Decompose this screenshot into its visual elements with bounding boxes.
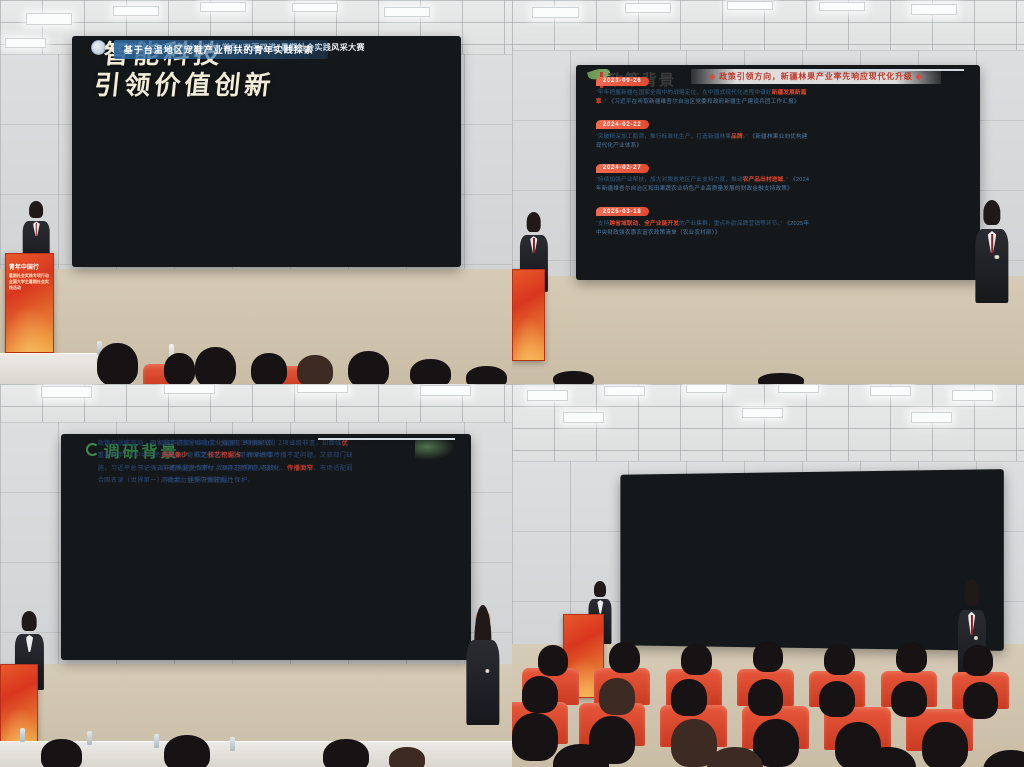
- activity-photo: [791, 476, 840, 479]
- ceiling-light: [200, 2, 246, 11]
- participant-hair: [22, 611, 37, 631]
- bar: [664, 477, 709, 478]
- ceiling-light: [384, 7, 430, 17]
- audience-foreground: [512, 357, 1024, 384]
- audience-head: [983, 750, 1024, 767]
- quote-highlight: 农产品出村进城: [743, 177, 784, 183]
- policy-item: 2025-03-18 “支持跨省域联动、全产业链开发的产业集群，重点补欧品牌营销…: [596, 200, 810, 238]
- photo-collage: 台州学院 Taizhou University 2025年度台州市大学生“双百双…: [0, 0, 1024, 767]
- chart-axes: 58.6 34.2 48.3: [652, 477, 725, 478]
- policy-item: 2024-02-27 “持续加强产业帮扶，加大对脱贫地区产业支持力度，推动农产品…: [596, 156, 810, 194]
- category-label: 学业信心不足: [704, 473, 722, 478]
- questionnaire-screenshot: [736, 476, 788, 478]
- paragraph-lead: 政策与战略驱动：: [98, 440, 151, 447]
- quote-text: “突破精深加工瓶颈，推行标准化生产，打造新疆林果: [596, 134, 731, 140]
- presenter-tie: [35, 223, 37, 236]
- water-bottle: [154, 734, 159, 748]
- audience-head: [41, 739, 82, 767]
- quote-source: 《习近平在听取新疆维吾尔自治区党委和政府新疆生产建设兵团工作汇报》: [608, 99, 799, 105]
- presenter-badge: [485, 669, 490, 674]
- audience-head: [963, 645, 994, 676]
- presenter: [975, 204, 1008, 304]
- panel-bottom-left: 调研背景 政策与战略驱动：国家将非遗保护作为文化强国、乡村振兴的重要抓手，《中华…: [0, 384, 512, 767]
- nav-item-project-results[interactable]: 项目成果: [887, 478, 920, 479]
- nav-item-future-outlook[interactable]: 未来展望: [928, 477, 961, 478]
- slide-big-title: 研究方法: [874, 474, 989, 479]
- ceiling-light: [778, 384, 819, 393]
- ceiling-light: [742, 408, 783, 418]
- projection-screen: 归因分析 项目背景 | 实践发现 | 归因分析 | 对策建议 | 项目成果: [621, 469, 1004, 651]
- paragraph-text: 、技艺: [188, 452, 208, 459]
- document-screenshot: [810, 69, 880, 71]
- participant-tie: [533, 238, 535, 253]
- participant-hair: [526, 212, 541, 232]
- water-bottle: [20, 728, 25, 742]
- ceiling-light: [297, 384, 348, 393]
- audience-head: [681, 644, 712, 675]
- ring-icon: [86, 443, 99, 456]
- panel-bottom-right: 归因分析 项目背景 | 实践发现 | 归因分析 | 对策建议 | 项目成果: [512, 384, 1024, 767]
- ceiling-light: [686, 384, 727, 393]
- method-bracket: [743, 475, 859, 478]
- horizontal-bar-chart: 项目A 54.6 项目B 32.1 项目C 28.4: [639, 477, 725, 478]
- document-screenshot: [886, 69, 959, 71]
- audience-head: [758, 373, 804, 384]
- audience-foreground: [0, 721, 512, 767]
- bar-value: 34.2: [685, 473, 692, 476]
- quote-text: “牢牢把握新疆在国家全局中的战略定位，在中国式现代化进程中谱好: [596, 90, 772, 96]
- podium-glow: [512, 315, 545, 361]
- ceiling-light: [727, 1, 773, 10]
- audience-head: [522, 676, 558, 713]
- presenter-body: [975, 229, 1008, 303]
- legend-swatch: [650, 473, 654, 476]
- body-text: 的研究框架，确保了: [922, 476, 984, 479]
- audience-head: [609, 642, 640, 673]
- policy-quote: “持续加强产业帮扶，加大对脱贫地区产业支持力度，推动农产品出村进城。” 《202…: [596, 176, 810, 194]
- diamond-icon: ◈: [913, 72, 923, 81]
- slide-body-text: 的研究框架，确保了 研究结果的全面性 和客观性。: [871, 474, 984, 479]
- projection-screen: 台州学院 Taizhou University 2025年度台州市大学生“双百双…: [72, 36, 461, 266]
- photo-caption-observation: 参与式观察: [852, 473, 881, 475]
- paragraph-lead: 仙居非遗发展痛点：: [162, 440, 221, 447]
- presenter-hair: [983, 200, 1000, 226]
- slide-subtitle: 基于台温地区宠鞋产业帮扶的青年实践探索: [114, 40, 328, 59]
- ceiling-light: [527, 390, 568, 401]
- presenter: [466, 610, 499, 725]
- policy-item: 2023-09-26 “牢牢把握新疆在国家全局中的战略定位，在中国式现代化进程中…: [596, 69, 810, 107]
- audience-head: [891, 681, 927, 718]
- paragraph-painpoints: 仙居非遗发展痛点：仙居有3项国家级、2项省级非遗，却面临优质影像少、技艺技艺挖掘…: [162, 438, 355, 488]
- audience-seating: [512, 625, 1024, 767]
- policy-item: 2024-02-22 “突破精深加工瓶颈，推行标准化生产，打造新疆林果品牌。” …: [596, 113, 810, 151]
- policy-date-badge: 2024-02-27: [596, 164, 649, 173]
- vertical-bar-chart: 58.6 34.2 48.3: [642, 477, 725, 478]
- presenter-body: [466, 640, 499, 725]
- policy-date-badge: 2024-02-22: [596, 120, 649, 129]
- ceiling-light: [292, 3, 338, 12]
- podium-title: 青年中国行: [9, 264, 50, 273]
- screen-surface: 归因分析 项目背景 | 实践发现 | 归因分析 | 对策建议 | 项目成果: [625, 473, 1000, 647]
- audience-head: [410, 359, 451, 384]
- document-body-lines: [887, 70, 958, 71]
- ceiling-light: [604, 386, 645, 396]
- slide-attribution-analysis: 归因分析 项目背景 | 实践发现 | 归因分析 | 对策建议 | 项目成果: [625, 473, 1000, 478]
- ceiling-light: [625, 3, 671, 13]
- panel-top-right: 政策背景 ◈ 政策引领方向，新疆林果产业率先响应现代化升级 ◈ 2023-09-…: [512, 0, 1024, 384]
- audience-head: [753, 641, 784, 672]
- category-label: 社交回避倾向: [679, 473, 697, 478]
- paragraph-highlight: 传播面窄: [287, 465, 313, 472]
- presenter-tie: [991, 234, 993, 253]
- quote-highlight: 跨省域联动、全产业链开发: [610, 221, 680, 227]
- audience-head: [922, 722, 968, 767]
- legend-label: 情绪表达障碍表现: [656, 473, 685, 477]
- presenter-hair: [29, 201, 43, 218]
- policy-quote: “牢牢把握新疆在国家全局中的战略定位，在中国式现代化进程中谱好新疆发展新篇章。”…: [596, 89, 810, 107]
- ceiling-light: [420, 385, 471, 396]
- audience-head: [748, 679, 784, 716]
- audience-head: [824, 644, 855, 675]
- projection-screen: 政策背景 ◈ 政策引领方向，新疆林果产业率先响应现代化升级 ◈ 2023-09-…: [576, 65, 980, 280]
- document-body-lines: [811, 70, 879, 71]
- audience-foreground: [0, 330, 512, 384]
- quote-end: 。”: [743, 134, 748, 140]
- quote-end: 。”: [602, 99, 607, 105]
- document-body-lines: [741, 477, 783, 478]
- leaf-decoration-icon: [415, 438, 455, 460]
- ceiling-light: [911, 412, 952, 423]
- audience-head: [297, 355, 333, 384]
- quote-end: 。”: [783, 177, 788, 183]
- audience-head: [97, 343, 138, 384]
- activity-photo: [791, 476, 840, 479]
- paragraph-highlight: 技艺挖掘浅: [208, 452, 241, 459]
- document-screenshot: [363, 438, 451, 440]
- presenter-badge: [995, 255, 1000, 260]
- activity-photo: [844, 475, 894, 478]
- ceiling-light: [870, 386, 911, 396]
- category-label: 情绪表达困难: [655, 473, 673, 478]
- activity-photo: [844, 475, 894, 478]
- ceiling-light: [911, 4, 957, 14]
- policy-date-badge: 2025-03-18: [596, 207, 649, 216]
- ceiling-light: [41, 386, 92, 398]
- audience-head: [671, 679, 707, 716]
- quote-text: “持续加强产业帮扶，加大对脱贫地区产业支持力度，推动: [596, 177, 743, 183]
- audience-head: [553, 371, 594, 384]
- audience-head: [896, 642, 927, 673]
- highlight-phrase: 多维度、立体化: [889, 474, 985, 479]
- chart-row: 项目A 54.6: [639, 477, 725, 478]
- ceiling-light: [164, 384, 215, 394]
- presenter-hair: [964, 579, 979, 606]
- bar-value: 48.3: [709, 473, 716, 476]
- audience-head: [251, 353, 287, 384]
- panel-top-left: 台州学院 Taizhou University 2025年度台州市大学生“双百双…: [0, 0, 512, 384]
- teal-wave-decoration: [625, 473, 1000, 478]
- chart-category-labels: 情绪表达困难 社交回避倾向 学业信心不足: [652, 473, 725, 478]
- screen-surface: 台州学院 Taizhou University 2025年度台州市大学生“双百双…: [76, 40, 457, 262]
- podium-banner-text: 青年中国行 暑期社会实践专项行动 全国大学生暑期社会实践活动: [9, 264, 50, 291]
- ceiling-light: [952, 390, 993, 401]
- method-label-interview: 对话访谈: [789, 476, 816, 479]
- audience-head: [599, 678, 635, 715]
- ceiling-light: [563, 412, 604, 423]
- method-label-community: 社区暑期公益网: [823, 475, 870, 478]
- audience-head: [466, 366, 507, 384]
- audience-head: [963, 682, 999, 719]
- chart-legend: 情绪表达障碍表现: [650, 473, 685, 478]
- participant-shirt: [26, 635, 33, 652]
- water-bottle: [87, 731, 92, 745]
- participant-shirt: [597, 600, 603, 614]
- water-bottle: [230, 737, 235, 751]
- screen-surface: 政策背景 ◈ 政策引领方向，新疆林果产业率先响应现代化升级 ◈ 2023-09-…: [580, 69, 976, 276]
- online-offline-label: 线上 ＋ 线下: [769, 475, 853, 478]
- audience-head: [164, 353, 195, 384]
- audience-head: [389, 747, 425, 767]
- ceiling-light: [819, 2, 865, 11]
- podium: [512, 269, 545, 361]
- audience-head: [323, 739, 369, 767]
- navbar-items: 项目背景 | 实践发现 | 归因分析 | 对策建议 | 项目成果 | 未来展望: [729, 477, 962, 478]
- audience-head: [195, 347, 236, 384]
- audience-head: [512, 713, 558, 761]
- policy-items: 2023-09-26 “牢牢把握新疆在国家全局中的战略定位，在中国式现代化进程中…: [596, 69, 810, 238]
- ceiling-light: [113, 6, 159, 16]
- policy-quote: “支持跨省域联动、全产业链开发的产业集群，重点补欧品牌营销等环节。” 《2025…: [596, 220, 810, 238]
- bar-value: 58.6: [662, 473, 669, 477]
- audience-head: [164, 735, 210, 767]
- photo-caption-parent-child: 家长与儿童同步进行: [769, 473, 821, 476]
- method-label-questionnaire: 电子/纸质问卷: [740, 476, 782, 478]
- policy-date-badge: 2023-09-26: [596, 77, 649, 86]
- participant-hair: [594, 581, 606, 597]
- podium-subtitle: 暑期社会实践专项行动 全国大学生暑期社会实践活动: [9, 273, 49, 290]
- quote-highlight: 品牌: [731, 134, 743, 140]
- policy-quote: “突破精深加工瓶颈，推行标准化生产，打造新疆林果品牌。” 《新疆林果业向优构建现…: [596, 133, 810, 151]
- main-title-line2: 引领价值创新: [93, 71, 276, 102]
- audience-head: [538, 645, 569, 676]
- audience-head: [348, 351, 389, 384]
- projection-screen: 调研背景 政策与战略驱动：国家将非遗保护作为文化强国、乡村振兴的重要抓手，《中华…: [61, 434, 471, 660]
- method-labels: 电子/纸质问卷 对话访谈 社区暑期公益网: [740, 475, 871, 478]
- quote-text: “支持: [596, 221, 610, 227]
- ceiling-light: [5, 38, 46, 48]
- paragraph-text: 仙居有3项国家级、2项省级非遗，却面临: [221, 440, 342, 447]
- ceiling-light: [26, 13, 72, 25]
- ceiling-light: [532, 7, 578, 18]
- audience-head: [819, 681, 855, 718]
- quote-end: 的产业集群，重点补欧品牌营销等环节。”: [679, 221, 783, 227]
- screen-surface: 调研背景 政策与战略驱动：国家将非遗保护作为文化强国、乡村振兴的重要抓手，《中华…: [65, 438, 467, 656]
- slide-navbar: 归因分析 项目背景 | 实践发现 | 归因分析 | 对策建议 | 项目成果: [625, 473, 1000, 478]
